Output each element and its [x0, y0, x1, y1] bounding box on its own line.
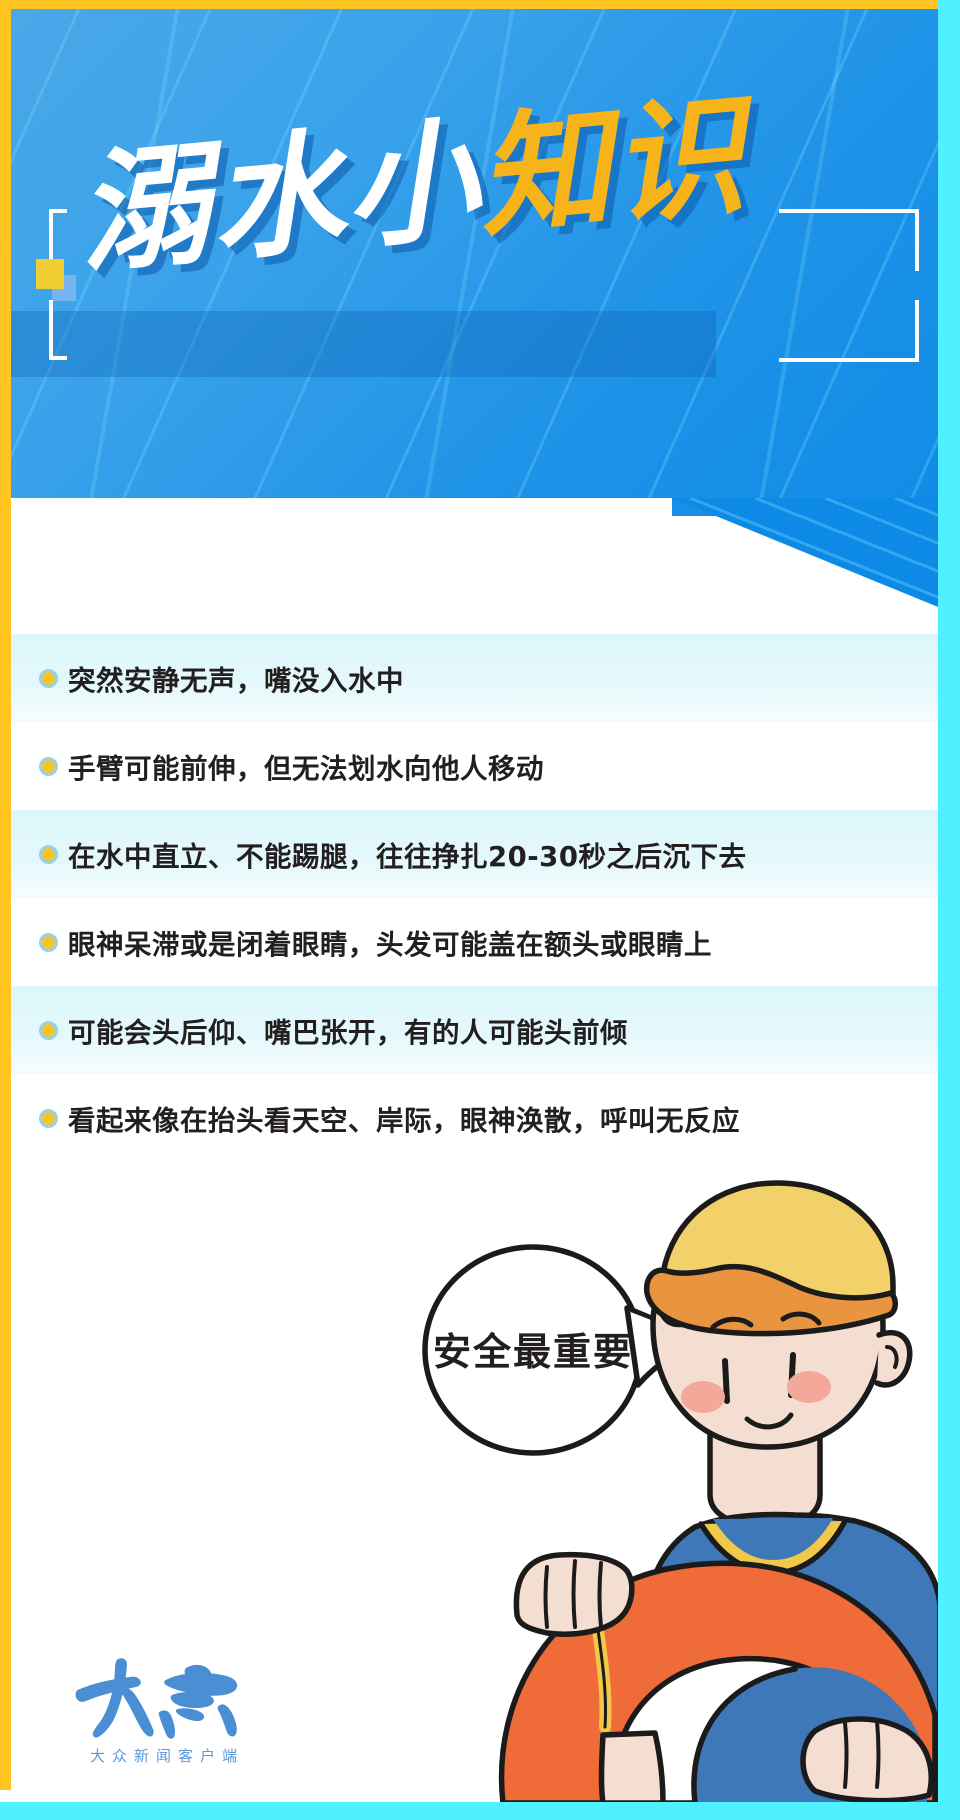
yellow-square-accent [36, 259, 64, 289]
left-accent-bar [0, 0, 11, 1790]
list-item: 眼神呆滞或是闭着眼睛，头发可能盖在额头或眼睛上 [11, 898, 938, 986]
poster-root: 溺水小知识 突然安静无声，嘴没入水中 手臂可能前伸，但无法划水向他人移动 在水中… [0, 0, 960, 1820]
header-corner-wedge [660, 498, 960, 628]
bracket-bottom-left-vertical [49, 300, 53, 360]
bracket-bottom-right-vertical [915, 300, 919, 362]
list-item-label: 眼神呆滞或是闭着眼睛，头发可能盖在额头或眼睛上 [68, 922, 712, 962]
bracket-top-left-horizontal [49, 209, 67, 213]
bullet-icon [39, 669, 58, 688]
brand-caption: 大众新闻客户端 [62, 1745, 272, 1766]
bracket-top-right-horizontal [779, 209, 919, 213]
bracket-bottom-right-horizontal [779, 358, 919, 362]
list-item: 看起来像在抬头看天空、岸际，眼神涣散，呼叫无反应 [11, 1074, 938, 1162]
facts-list: 突然安静无声，嘴没入水中 手臂可能前伸，但无法划水向他人移动 在水中直立、不能踢… [11, 612, 938, 1162]
bullet-icon [39, 757, 58, 776]
right-hand [803, 1719, 931, 1801]
list-item-label: 看起来像在抬头看天空、岸际，眼神涣散，呼叫无反应 [68, 1098, 740, 1138]
title-backdrop-band [11, 311, 716, 377]
dazhong-logo-mark [62, 1655, 262, 1741]
list-item-label: 在水中直立、不能踢腿，往往挣扎20-30秒之后沉下去 [68, 834, 746, 874]
list-item: 在水中直立、不能踢腿，往往挣扎20-30秒之后沉下去 [11, 810, 938, 898]
list-item-label: 手臂可能前伸，但无法划水向他人移动 [68, 746, 544, 786]
list-item: 手臂可能前伸，但无法划水向他人移动 [11, 722, 938, 810]
list-item-label: 突然安静无声，嘴没入水中 [68, 658, 404, 698]
left-hand [516, 1555, 631, 1635]
cap [647, 1183, 896, 1334]
bullet-icon [39, 1109, 58, 1128]
bullet-icon [39, 933, 58, 952]
bullet-icon [39, 845, 58, 864]
list-item: 可能会头后仰、嘴巴张开，有的人可能头前倾 [11, 986, 938, 1074]
bullet-icon [39, 1021, 58, 1040]
bracket-top-right-vertical [915, 209, 919, 271]
bracket-bottom-left-horizontal [49, 356, 67, 360]
top-accent-bar [0, 0, 960, 9]
speech-bubble-text: 安全最重要 [433, 1330, 633, 1374]
list-item: 突然安静无声，嘴没入水中 [11, 634, 938, 722]
list-item-label: 可能会头后仰、嘴巴张开，有的人可能头前倾 [68, 1010, 628, 1050]
right-accent-bar [938, 0, 960, 1820]
bottom-accent-bar [0, 1802, 960, 1820]
brand-logo: 大众新闻客户端 [62, 1655, 272, 1766]
boy-with-lifering-illustration: 安全最重要 [395, 1175, 940, 1803]
page-title-yellow-part: 知识 [471, 79, 752, 257]
